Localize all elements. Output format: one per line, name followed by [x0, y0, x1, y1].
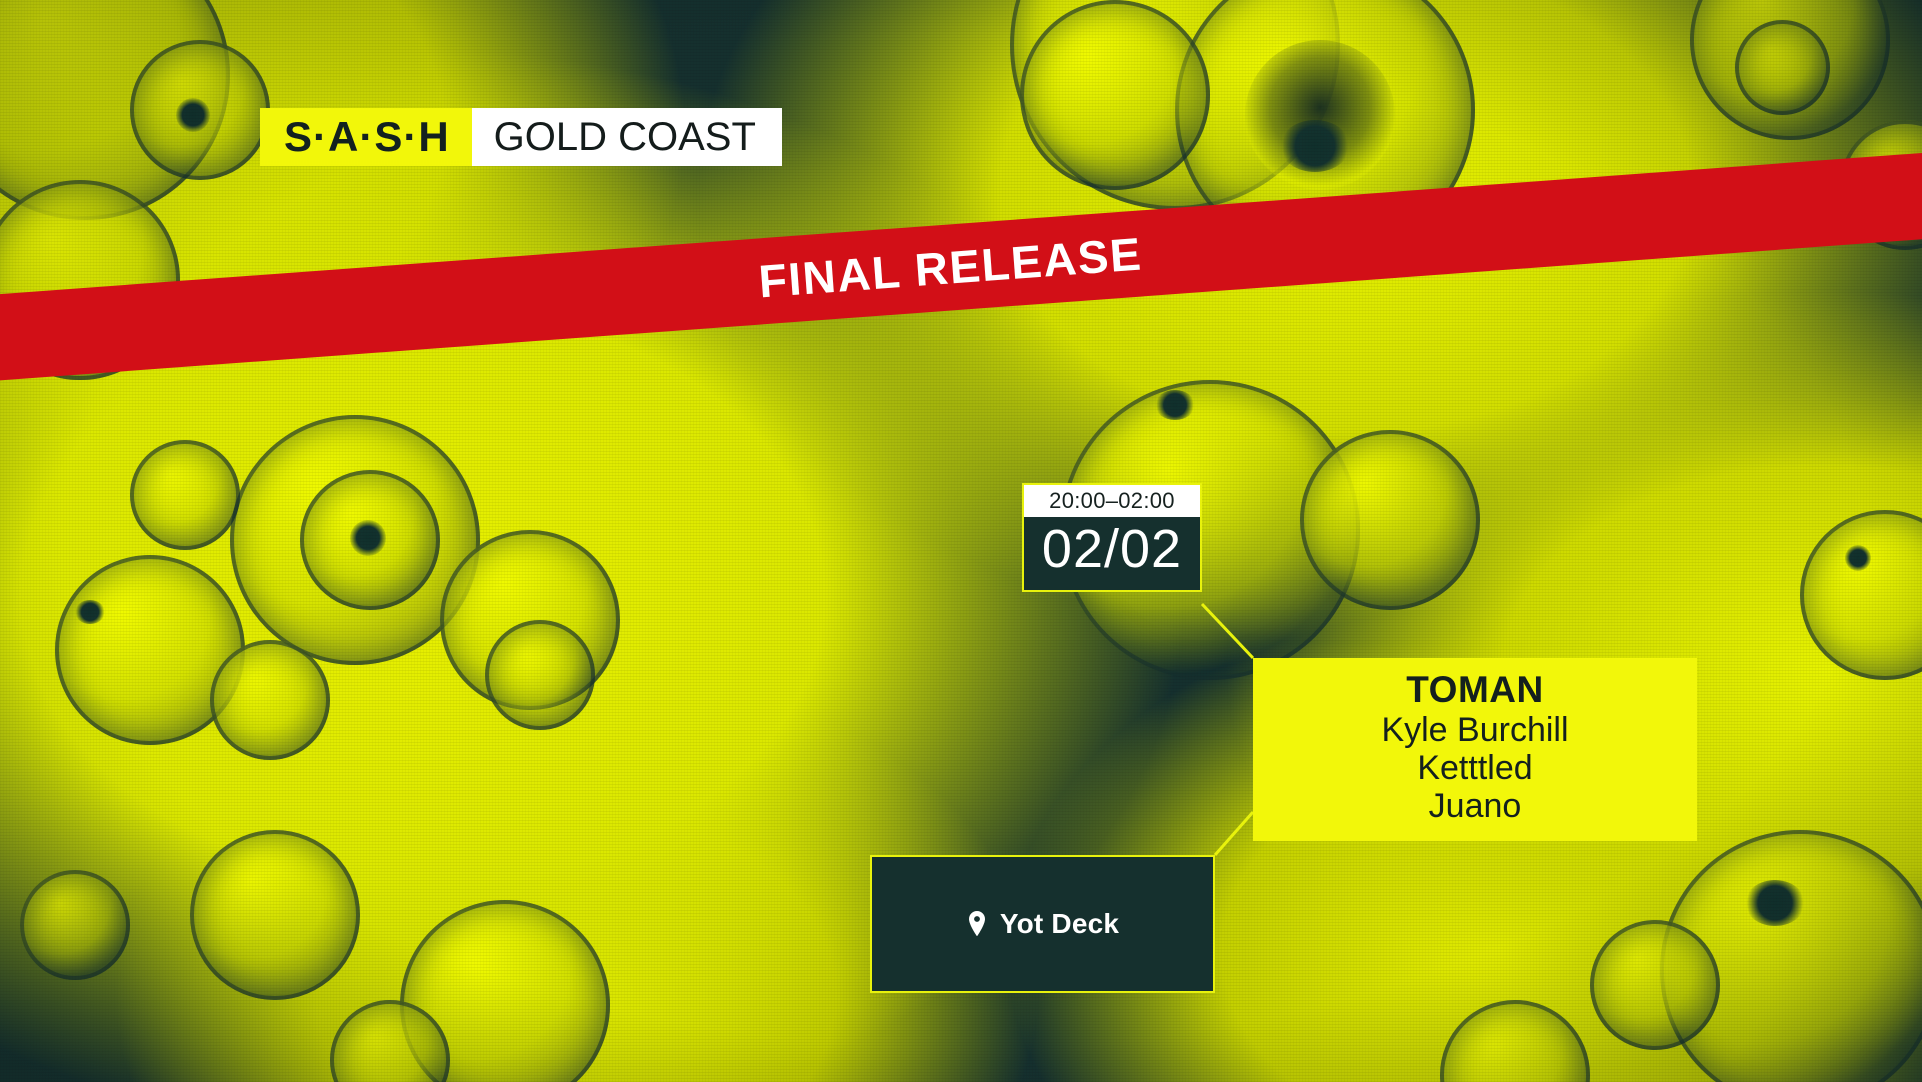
date-time-box: 20:00–02:00 02/02	[1022, 483, 1202, 592]
event-date: 02/02	[1024, 517, 1200, 590]
venue-box: Yot Deck	[870, 855, 1215, 993]
sash-logo: S·A·S·H GOLD COAST	[260, 108, 782, 166]
event-flyer: S·A·S·H GOLD COAST FINAL RELEASE 20:00–0…	[0, 0, 1922, 1082]
logo-city-text: GOLD COAST	[494, 117, 756, 157]
lineup-support-artist: Juano	[1271, 787, 1679, 825]
lineup-support-artist: Kyle Burchill	[1271, 711, 1679, 749]
lineup-headline-artist: TOMAN	[1271, 670, 1679, 711]
venue-name: Yot Deck	[1000, 908, 1119, 940]
lineup-support-artist: Ketttled	[1271, 749, 1679, 787]
logo-mark-block: S·A·S·H	[260, 108, 472, 166]
logo-city-block: GOLD COAST	[472, 108, 782, 166]
logo-mark-text: S·A·S·H	[284, 116, 450, 158]
final-release-label: FINAL RELEASE	[757, 226, 1144, 308]
event-time-range: 20:00–02:00	[1024, 485, 1200, 517]
location-pin-icon	[966, 910, 988, 938]
lineup-box: TOMAN Kyle Burchill Ketttled Juano	[1253, 658, 1697, 841]
